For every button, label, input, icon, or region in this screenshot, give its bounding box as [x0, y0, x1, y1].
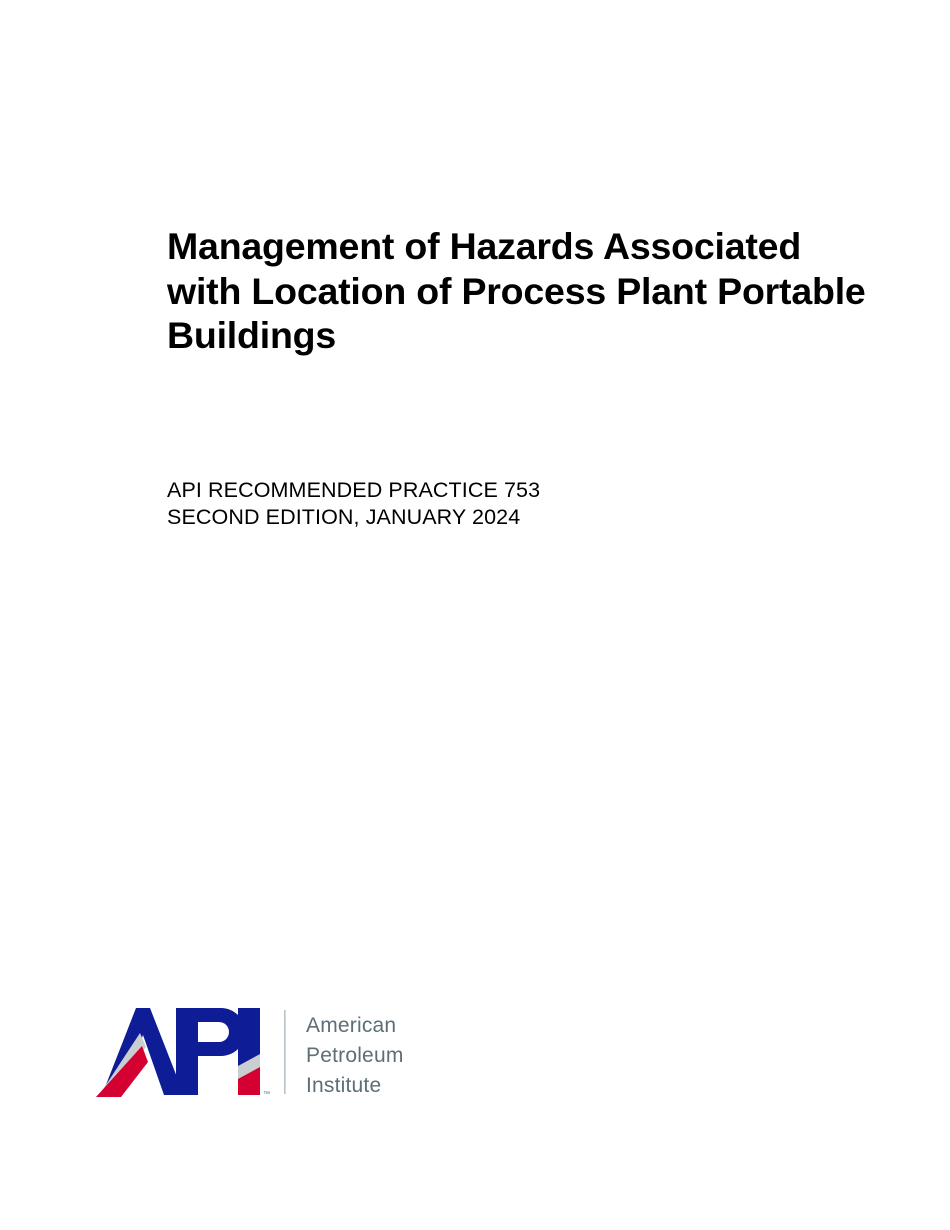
- logo-letter-p-icon: [176, 1008, 245, 1095]
- document-designation: API RECOMMENDED PRACTICE 753: [167, 477, 807, 504]
- logo-divider: [284, 1010, 286, 1094]
- page-title: Management of Hazards Associated with Lo…: [167, 224, 883, 358]
- api-logo: ™ American Petroleum Institute: [88, 1002, 428, 1102]
- logo-p-bowl-counter: [198, 1022, 229, 1042]
- logo-letter-a-icon: [96, 1008, 184, 1097]
- logo-wordmark-line-3: Institute: [306, 1074, 381, 1097]
- logo-wordmark: American Petroleum Institute: [306, 1014, 404, 1097]
- logo-wordmark-line-1: American: [306, 1014, 396, 1037]
- logo-wordmark-line-2: Petroleum: [306, 1044, 404, 1067]
- logo-letter-i-icon: [238, 1008, 260, 1095]
- document-cover-page: Management of Hazards Associated with Lo…: [0, 0, 950, 1230]
- logo-trademark-icon: ™: [263, 1091, 270, 1098]
- title-block: Management of Hazards Associated with Lo…: [167, 224, 883, 358]
- designation-block: API RECOMMENDED PRACTICE 753 SECOND EDIT…: [167, 477, 807, 531]
- api-logo-svg: ™ American Petroleum Institute: [88, 1002, 428, 1102]
- document-edition: SECOND EDITION, JANUARY 2024: [167, 504, 807, 531]
